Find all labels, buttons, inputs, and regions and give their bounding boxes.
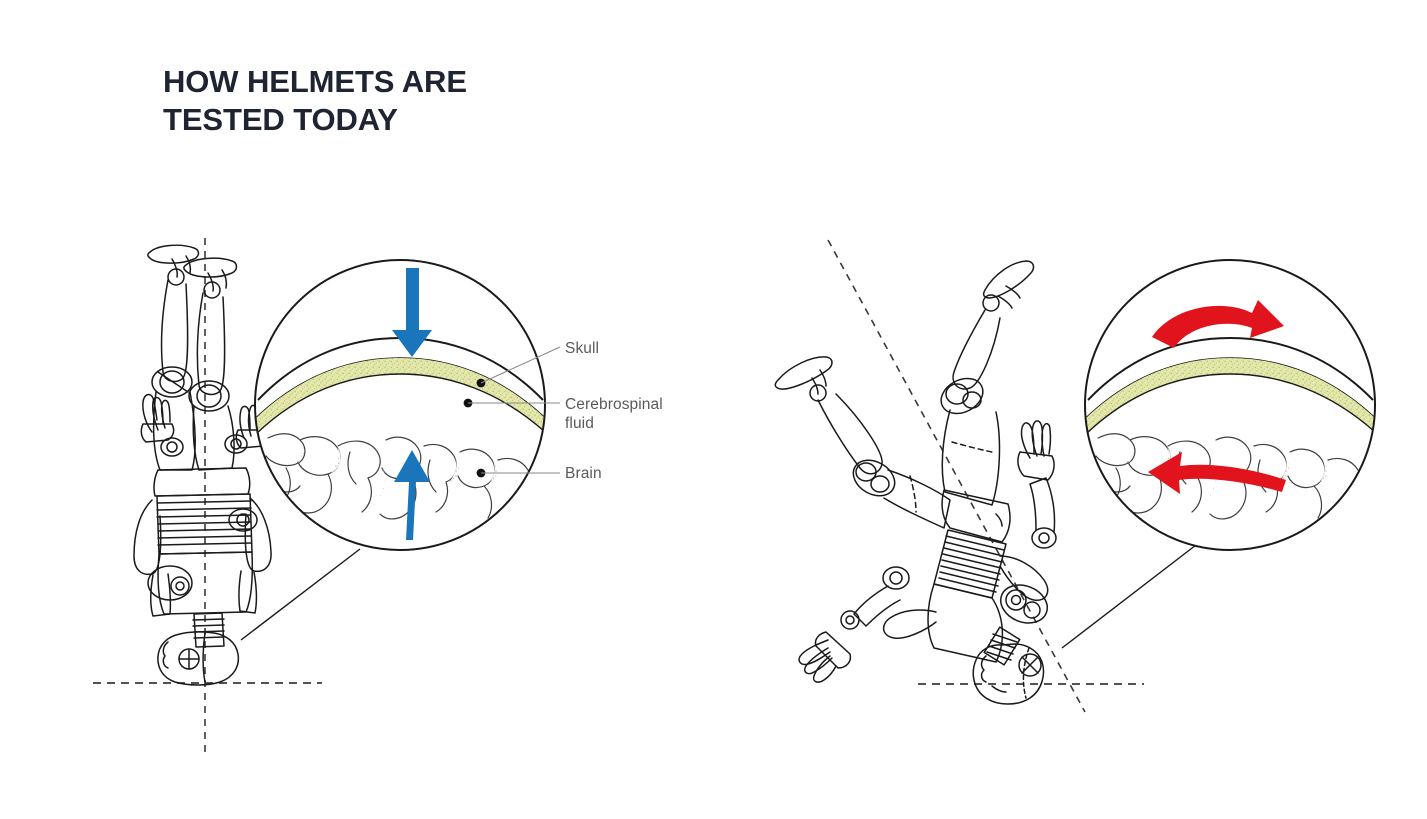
knee-joint-upper [935, 372, 989, 421]
lower-leg-right [197, 293, 224, 394]
dummy-foot-right [184, 258, 237, 291]
elbow-joint-left2b [883, 567, 909, 589]
pelvis-block-right [942, 490, 1010, 542]
elbow-joint-right2 [1032, 528, 1056, 548]
foot-upper-left [775, 357, 832, 394]
dummy-foot-left [148, 245, 199, 277]
thigh-crease-upper [952, 442, 992, 452]
knee-joint-right [189, 381, 229, 411]
infographic-canvas: HOW HELMETS ARE TESTED TODAY HOW YOU ARE… [0, 0, 1427, 819]
lower-leg-left2 [818, 394, 882, 474]
hand-right2 [1018, 421, 1054, 480]
dummy-vertical [134, 245, 271, 685]
callout-label-skull: Skull [565, 339, 599, 358]
shoulder-joint-right [229, 509, 257, 531]
upper-arm-right [245, 498, 271, 571]
chest-block-right [928, 584, 1002, 662]
shoulder-joint-right2 [995, 578, 1053, 629]
callout-leader-left [241, 549, 360, 640]
callout-circle-right [1085, 260, 1375, 550]
foot-upper-right [984, 261, 1034, 308]
dummy-head [158, 632, 238, 685]
dummy-angled [775, 261, 1056, 704]
illustration-layer [0, 0, 1427, 819]
neck-segment [193, 613, 224, 647]
forearm-left2 [854, 586, 900, 626]
lower-leg-left [162, 280, 188, 381]
pelvis-block [154, 468, 250, 496]
lower-leg-upper [953, 310, 1000, 389]
thigh-crease-left2 [910, 476, 916, 512]
diagonal-axis-line [828, 240, 1085, 712]
callout-label-brain: Brain [565, 464, 602, 483]
callout-label-cerebrospinal-fluid: Cerebrospinal fluid [565, 395, 683, 433]
thigh-left [154, 392, 196, 470]
upper-arm-left [134, 500, 161, 574]
elbow-joint-left2c [841, 611, 859, 629]
ankle-joint-left [168, 269, 184, 285]
callout-leader-right [1062, 545, 1196, 648]
forearm-right2 [1030, 478, 1055, 532]
callout-circle-left [255, 260, 545, 550]
hand-left [141, 395, 173, 442]
knee-joint-left [152, 367, 192, 397]
hand-left2 [799, 632, 850, 682]
ankle-joint-right [204, 282, 220, 298]
